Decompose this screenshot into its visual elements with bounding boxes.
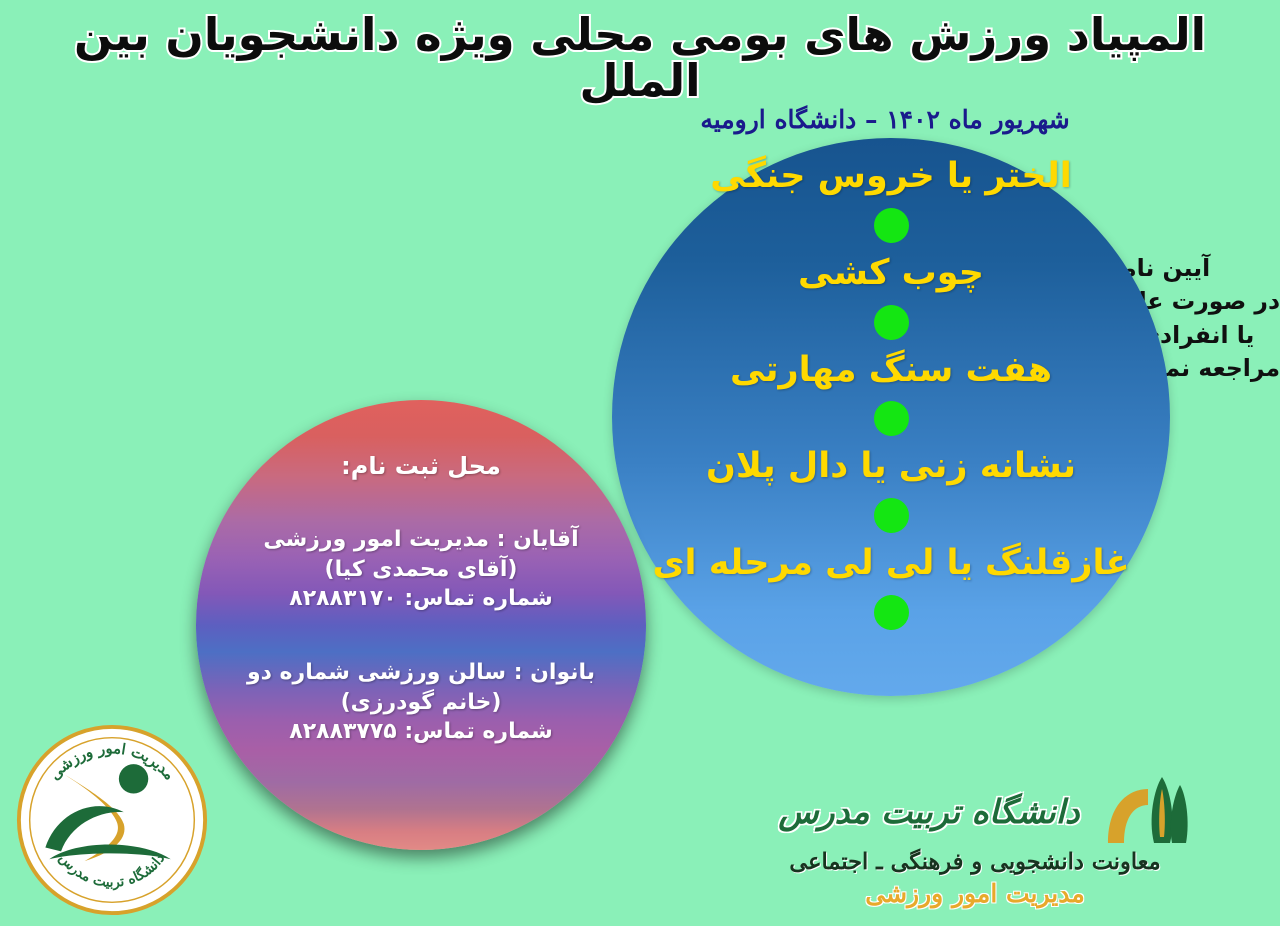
registration-women-block: بانوان : سالن ورزشی شماره دو (خانم گودرز… xyxy=(196,658,646,747)
men-phone: شماره تماس: ۸۲۸۸۳۱۷۰ xyxy=(196,584,646,614)
bullet-dot-icon xyxy=(874,305,909,340)
sport-item-2: چوب کشی xyxy=(798,255,984,292)
men-place: آقایان : مدیریت امور ورزشی xyxy=(196,525,646,555)
men-contact-name: (آقای محمدی کیا) xyxy=(196,555,646,585)
sports-list: الختر یا خروس جنگی چوب کشی هفت سنگ مهارت… xyxy=(612,140,1170,700)
registration-heading: محل ثبت نام: xyxy=(196,452,646,480)
sport-item-5: غازقلنگ یا لی لی مرحله ای xyxy=(652,545,1129,582)
brand-block: دانشگاه تربیت مدرس معاونت دانشجویی و فره… xyxy=(760,775,1190,908)
bullet-dot-icon xyxy=(874,208,909,243)
brand-university-name: دانشگاه تربیت مدرس xyxy=(760,792,1098,831)
bullet-dot-icon xyxy=(874,498,909,533)
women-phone: شماره تماس: ۸۲۸۸۳۷۷۵ xyxy=(196,717,646,747)
page-title: المپیاد ورزش های بومی محلی ویژه دانشجویا… xyxy=(60,12,1220,105)
brand-logo-row: دانشگاه تربیت مدرس xyxy=(760,775,1190,847)
registration-info: محل ثبت نام: آقایان : مدیریت امور ورزشی … xyxy=(196,400,646,850)
registration-men-block: آقایان : مدیریت امور ورزشی (آقای محمدی ک… xyxy=(196,525,646,614)
sport-item-3: هفت سنگ مهارتی xyxy=(730,352,1052,389)
brand-sport-office: مدیریت امور ورزشی xyxy=(760,879,1190,908)
women-place: بانوان : سالن ورزشی شماره دو xyxy=(196,658,646,688)
brand-department: معاونت دانشجویی و فرهنگی ـ اجتماعی xyxy=(760,849,1190,875)
sports-office-logo: مدیریت امور ورزشی دانشگاه تربیت مدرس xyxy=(14,722,210,918)
poster-canvas: المپیاد ورزش های بومی محلی ویژه دانشجویا… xyxy=(0,0,1280,926)
athlete-head-icon xyxy=(119,764,148,793)
subtitle-date: شهریور ماه ۱۴۰۲ – دانشگاه ارومیه xyxy=(690,105,1080,134)
sport-item-4: نشانه زنی یا دال پلان xyxy=(706,448,1076,485)
bullet-dot-icon xyxy=(874,401,909,436)
women-contact-name: (خانم گودرزی) xyxy=(196,688,646,718)
sport-item-1: الختر یا خروس جنگی xyxy=(710,158,1072,195)
bullet-dot-icon xyxy=(874,595,909,630)
university-emblem-icon xyxy=(1102,775,1190,847)
